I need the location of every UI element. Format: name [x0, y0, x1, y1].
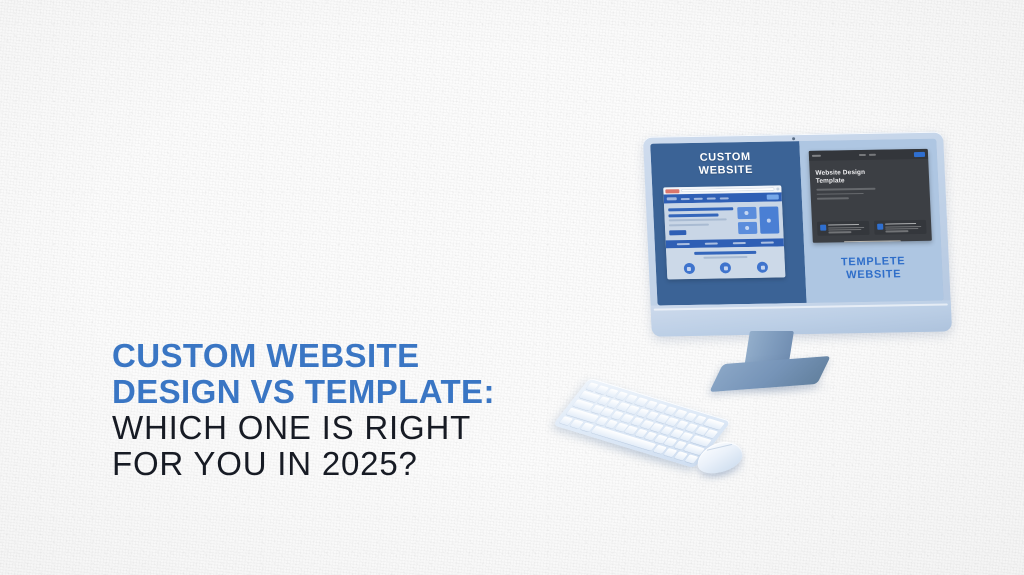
headline-block: CUSTOM WEBSITE DESIGN VS TEMPLATE: WHICH… [112, 338, 542, 482]
template-nav-link [869, 154, 876, 156]
mockup-hero-line [669, 218, 727, 221]
feature-card-line [829, 229, 862, 231]
footer-circle-icon [683, 263, 695, 274]
mockup-card [759, 206, 780, 233]
template-hero-line [816, 193, 863, 195]
feature-icon [820, 224, 826, 230]
mockup-hero-heading [668, 207, 733, 211]
mockup-hero [664, 201, 784, 240]
feature-card-text [885, 223, 923, 232]
template-cta-button [914, 151, 925, 156]
browser-tab [665, 189, 679, 193]
template-mockup: Website Design Template [808, 149, 931, 243]
mockup-hero-text [668, 207, 734, 235]
screen-panel-template: Website Design Template [799, 139, 944, 303]
templete-title-line-2: WEBSITE [805, 267, 943, 282]
mockup-footer-icons [671, 261, 782, 274]
feature-card-line [829, 231, 852, 233]
mockup-logo [667, 197, 677, 200]
monitor-screen: CUSTOM WEBSITE [650, 139, 943, 306]
template-hero-line [816, 188, 875, 191]
templete-website-title: TEMPLETE WEBSITE [804, 255, 942, 283]
headline-line-4: FOR YOU IN 2025? [112, 446, 542, 482]
template-logo [812, 154, 821, 157]
feature-icon [877, 223, 883, 229]
card-glyph-icon [767, 218, 771, 222]
mockup-nav-link [707, 197, 716, 199]
mockup-hero-button [669, 230, 686, 235]
template-heading: Website Design Template [815, 168, 895, 186]
custom-browser-mockup [663, 185, 785, 279]
webcam-icon [792, 137, 795, 140]
mockup-footer-section [666, 246, 785, 279]
screen-panel-custom: CUSTOM WEBSITE [650, 141, 806, 305]
mockup-footer-sub [703, 256, 747, 259]
card-glyph-icon [745, 226, 749, 230]
browser-url-bar [681, 187, 774, 192]
feature-card-line [886, 228, 919, 230]
custom-website-title: CUSTOM WEBSITE [657, 150, 795, 178]
monitor-bezel: CUSTOM WEBSITE [643, 132, 952, 337]
card-glyph-icon [745, 211, 749, 215]
footer-circle-icon [757, 262, 769, 273]
footer-circle-icon [720, 262, 732, 273]
mockup-footer-title [694, 251, 756, 255]
mockup-hero-cards [737, 206, 780, 234]
mockup-hero-heading [668, 213, 719, 217]
mockup-nav-link [720, 197, 729, 199]
mockup-strip-item [676, 243, 689, 245]
desk-scene: CUSTOM WEBSITE [540, 120, 980, 520]
feature-card-line [886, 230, 909, 232]
mockup-hero-line [669, 223, 709, 226]
template-feature-card [817, 221, 870, 236]
headline-line-3: WHICH ONE IS RIGHT [112, 410, 542, 446]
template-base-shadow [844, 240, 902, 243]
feature-card-title [828, 224, 859, 226]
mockup-strip-item [704, 243, 717, 245]
monitor: CUSTOM WEBSITE [643, 132, 952, 337]
mockup-nav-button [767, 194, 779, 199]
browser-menu-icon [776, 187, 779, 190]
custom-title-line-2: WEBSITE [657, 163, 794, 178]
template-feature-cards [817, 220, 927, 236]
feature-card-title [885, 223, 916, 225]
mouse-seam [707, 444, 732, 451]
headline-line-1: CUSTOM WEBSITE [112, 338, 542, 374]
mockup-card [737, 207, 757, 220]
mockup-strip-item [760, 242, 773, 244]
key [684, 454, 698, 464]
template-hero-line [817, 197, 849, 199]
template-hero: Website Design Template [809, 159, 930, 204]
mockup-card [737, 222, 757, 235]
template-nav-link [859, 154, 866, 156]
mockup-strip-item [732, 242, 745, 244]
feature-card-text [828, 224, 866, 233]
headline-line-2: DESIGN VS TEMPLATE: [112, 374, 542, 410]
mockup-nav-link [694, 197, 703, 199]
template-feature-card [874, 220, 927, 235]
mockup-nav-link [681, 197, 690, 199]
